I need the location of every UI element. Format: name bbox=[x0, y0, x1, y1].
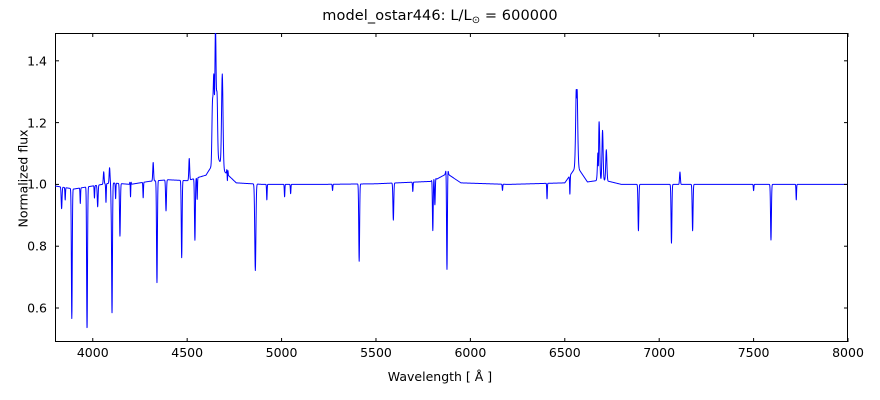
title-prefix: model_ostar446: L/L bbox=[322, 8, 471, 24]
x-tick-label: 6500 bbox=[549, 345, 581, 360]
x-tick-label: 5000 bbox=[266, 345, 298, 360]
spectrum-figure: model_ostar446: L/L⊙ = 600000 4000450050… bbox=[0, 0, 880, 400]
page-title: model_ostar446: L/L⊙ = 600000 bbox=[0, 8, 880, 26]
x-tick-label: 5500 bbox=[360, 345, 392, 360]
x-tick-label: 7500 bbox=[738, 345, 770, 360]
x-tick-label: 4500 bbox=[171, 345, 203, 360]
x-tick-label: 8000 bbox=[832, 345, 864, 360]
title-suffix: = 600000 bbox=[480, 8, 558, 24]
x-tick-label: 6000 bbox=[454, 345, 486, 360]
y-axis-label: Normalized flux bbox=[16, 19, 31, 339]
plot-axes bbox=[55, 33, 848, 342]
spectrum-line-plot bbox=[55, 33, 848, 342]
x-axis-label: Wavelength [ Å ] bbox=[0, 369, 880, 384]
title-subscript: ⊙ bbox=[472, 15, 480, 26]
x-tick-label: 4000 bbox=[77, 345, 109, 360]
x-tick-label: 7000 bbox=[643, 345, 675, 360]
